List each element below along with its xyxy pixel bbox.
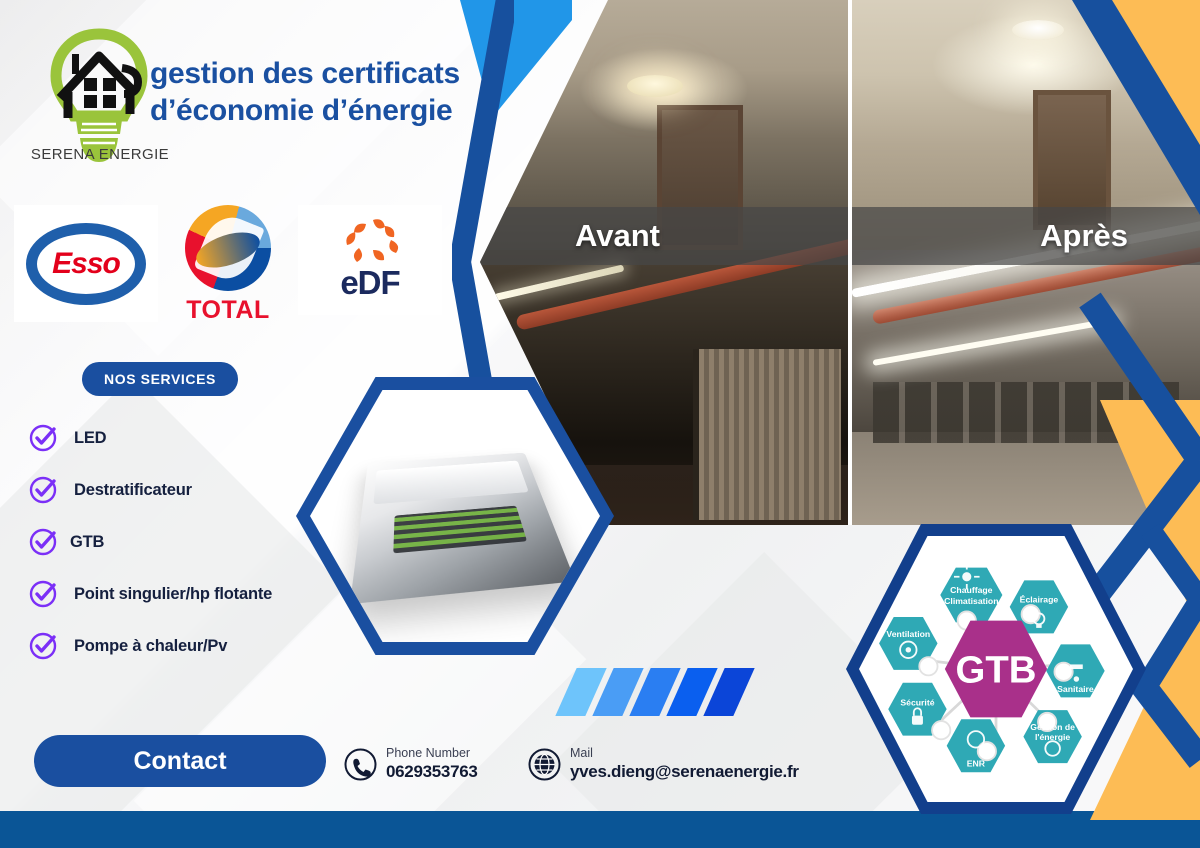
- contact-mail[interactable]: Mail yves.dieng@serenaenergie.fr: [528, 746, 799, 782]
- phone-value: 0629353763: [386, 762, 478, 782]
- globe-icon: [528, 748, 561, 781]
- gtb-node-label: Climatisation: [944, 596, 998, 606]
- esso-label: Esso: [52, 247, 120, 281]
- gtb-node-label: l'énergie: [1035, 732, 1070, 742]
- total-logo: TOTAL: [172, 205, 284, 325]
- total-mark-icon: [185, 205, 271, 291]
- gtb-node-label: ENR: [967, 759, 986, 769]
- gtb-diagram-hexagon: GTB Chauffage Climatisation Éclairage: [846, 524, 1146, 814]
- check-circle-icon: [28, 527, 58, 557]
- gtb-node-label: Sanitaire: [1057, 684, 1094, 694]
- partner-logos: Esso TOTAL eDF: [14, 205, 442, 325]
- device-photo-hexagon: [296, 377, 614, 655]
- services-pill: NOS SERVICES: [82, 362, 238, 396]
- logo-caption: SERENA ENERGIE: [22, 146, 178, 163]
- edf-label: eDF: [340, 264, 399, 302]
- check-circle-icon: [28, 423, 58, 453]
- edf-logo: eDF: [298, 205, 442, 315]
- esso-logo: Esso: [14, 205, 158, 322]
- gtb-node-label: Éclairage: [1020, 594, 1059, 604]
- check-circle-icon: [28, 475, 58, 505]
- stripe-decoration: [566, 668, 786, 716]
- esso-oval: Esso: [26, 223, 146, 305]
- service-label: Destratificateur: [74, 481, 192, 500]
- service-label: GTB: [70, 533, 104, 552]
- corner-shape-top-right: [1060, 0, 1200, 300]
- poster-canvas: Avant Après SERENA ENERGIE gestion des c…: [0, 0, 1200, 848]
- edf-sun-icon: [333, 218, 407, 264]
- gtb-node-label: Gestion de: [1030, 722, 1075, 732]
- before-label: Avant: [575, 218, 660, 254]
- phone-icon: [344, 748, 377, 781]
- gtb-center-label: GTB: [956, 649, 1037, 692]
- gtb-node-label: Ventilation: [886, 629, 930, 639]
- mail-value: yves.dieng@serenaenergie.fr: [570, 762, 799, 782]
- service-label: Pompe à chaleur/Pv: [74, 637, 227, 656]
- service-label: Point singulier/hp flotante: [74, 585, 272, 604]
- contact-button[interactable]: Contact: [34, 735, 326, 787]
- total-label: TOTAL: [186, 296, 270, 325]
- mail-label: Mail: [570, 746, 799, 762]
- before-label-band: Avant: [480, 207, 848, 265]
- before-garage-door: [693, 349, 840, 520]
- gtb-node-label: Chauffage: [950, 585, 993, 595]
- check-circle-icon: [28, 631, 58, 661]
- contact-phone[interactable]: Phone Number 0629353763: [344, 746, 478, 782]
- phone-label: Phone Number: [386, 746, 478, 762]
- service-label: LED: [74, 429, 106, 448]
- check-circle-icon: [28, 579, 58, 609]
- gtb-node-label: Sécurité: [900, 698, 934, 708]
- destratificateur-image: [350, 453, 575, 605]
- footer-bar: [0, 811, 1200, 848]
